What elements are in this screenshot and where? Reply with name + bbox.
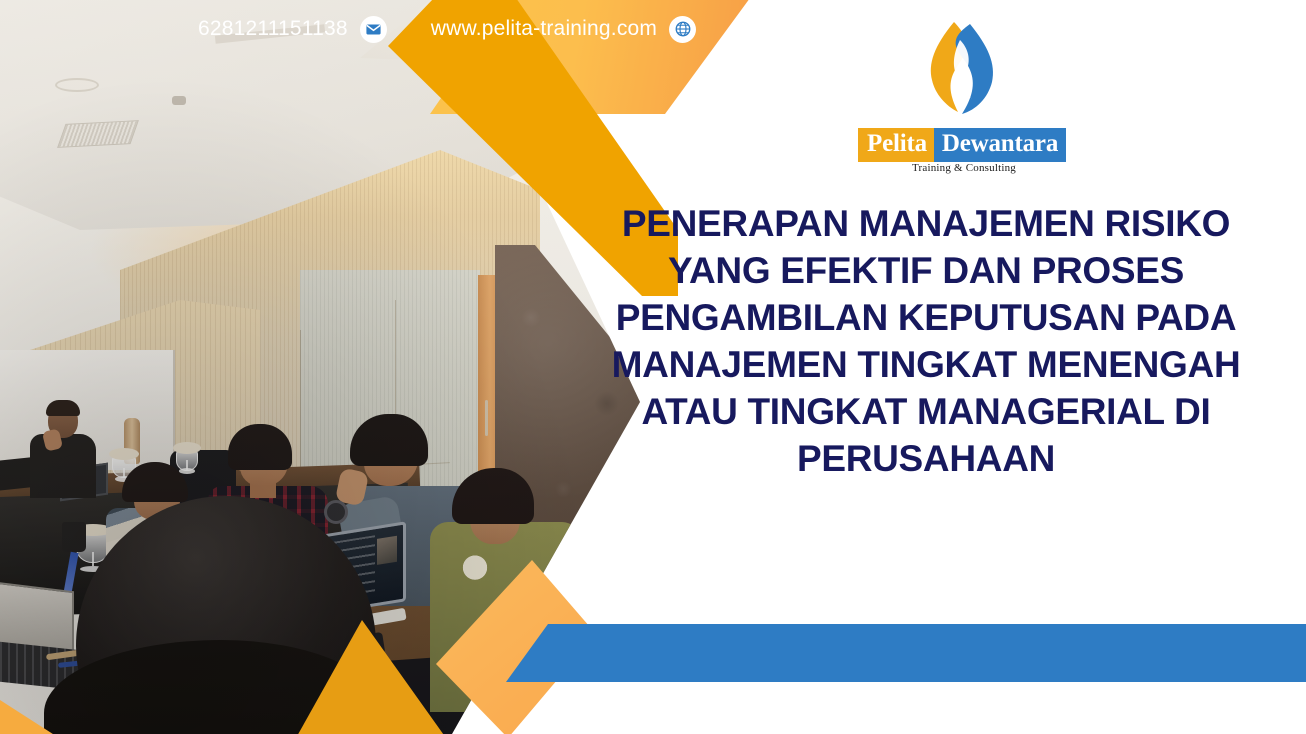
training-banner: Pelita Dewantara Training & Consulting P…: [0, 0, 1306, 734]
company-logo: Pelita Dewantara Training & Consulting: [858, 16, 1070, 166]
envelope-icon[interactable]: [360, 16, 387, 43]
contact-footer-bar: [506, 624, 1306, 682]
logo-word-pelita: Pelita: [858, 128, 934, 162]
page-title: PENERAPAN MANAJEMEN RISIKO YANG EFEKTIF …: [608, 200, 1244, 482]
logo-tagline: Training & Consulting: [858, 162, 1070, 174]
contact-phone[interactable]: 6281211151138: [198, 16, 387, 43]
contact-phone-label: 6281211151138: [198, 17, 348, 41]
flame-icon: [910, 16, 1014, 120]
logo-wordmark: Pelita Dewantara: [858, 128, 1070, 162]
globe-icon[interactable]: [669, 16, 696, 43]
contact-website[interactable]: www.pelita-training.com: [431, 16, 696, 43]
contact-website-label: www.pelita-training.com: [431, 17, 657, 41]
logo-word-dewantara: Dewantara: [934, 128, 1066, 162]
contact-footer-content: 6281211151138 www.pelita-training.com: [0, 0, 800, 58]
